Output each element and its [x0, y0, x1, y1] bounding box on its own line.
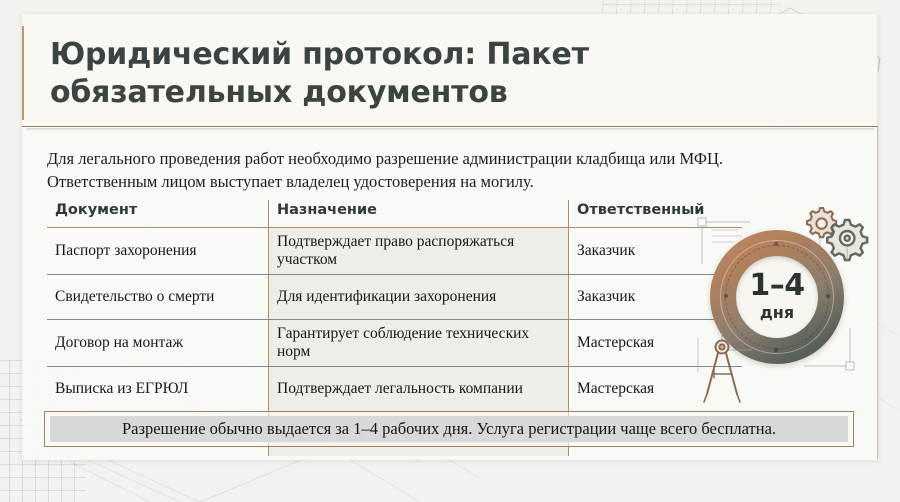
cell-purpose: Подтверждает право распоряжаться участко…: [269, 228, 569, 275]
medallion-rivet: [774, 348, 778, 352]
table-row: Договор на монтаж Гарантирует соблюдение…: [47, 319, 742, 366]
title-accent-bar: [22, 26, 24, 120]
footer-callout: Разрешение обычно выдается за 1–4 рабочи…: [44, 411, 854, 447]
table-header-row: Документ Назначение Ответственный: [47, 200, 742, 228]
medallion-unit: дня: [760, 303, 794, 322]
cell-document: Свидетельство о смерти: [47, 274, 269, 319]
column-header-document: Документ: [47, 200, 269, 228]
footer-callout-text: Разрешение обычно выдается за 1–4 рабочи…: [122, 421, 776, 438]
page-title: Юридический протокол: Пакет обязательных…: [50, 36, 670, 113]
cell-document: Паспорт захоронения: [47, 228, 269, 275]
table-head: Документ Назначение Ответственный: [47, 200, 742, 228]
cell-document: Договор на монтаж: [47, 319, 269, 366]
gear-icon: [802, 204, 872, 266]
duration-medallion: 1–4 дня: [692, 212, 872, 398]
intro-paragraph: Для легального проведения работ необходи…: [47, 147, 807, 194]
footer-callout-fill: Разрешение обычно выдается за 1–4 рабочи…: [50, 416, 848, 442]
cell-document: Выписка из ЕГРЮЛ: [47, 366, 269, 411]
cell-purpose: Подтверждает легальность компании: [269, 366, 569, 411]
table-row: Выписка из ЕГРЮЛ Подтверждает легальност…: [47, 366, 742, 411]
medallion-number: 1–4: [749, 271, 804, 301]
cell-purpose: Гарантирует соблюдение технических норм: [269, 319, 569, 366]
cell-purpose: Для идентификации захоронения: [269, 274, 569, 319]
slide-header: Юридический протокол: Пакет обязательных…: [22, 14, 878, 127]
compass-divider-icon: [694, 328, 756, 406]
column-header-purpose: Назначение: [269, 200, 569, 228]
table-row: Свидетельство о смерти Для идентификации…: [47, 274, 742, 319]
table-row: Паспорт захоронения Подтверждает право р…: [47, 228, 742, 275]
header-shadow: [26, 128, 874, 131]
slide-canvas: Юридический протокол: Пакет обязательных…: [0, 0, 900, 502]
medallion-rivet: [826, 294, 830, 298]
medallion-rivet: [774, 242, 778, 246]
medallion-face: 1–4 дня: [736, 256, 818, 338]
medallion-rivet: [724, 294, 728, 298]
